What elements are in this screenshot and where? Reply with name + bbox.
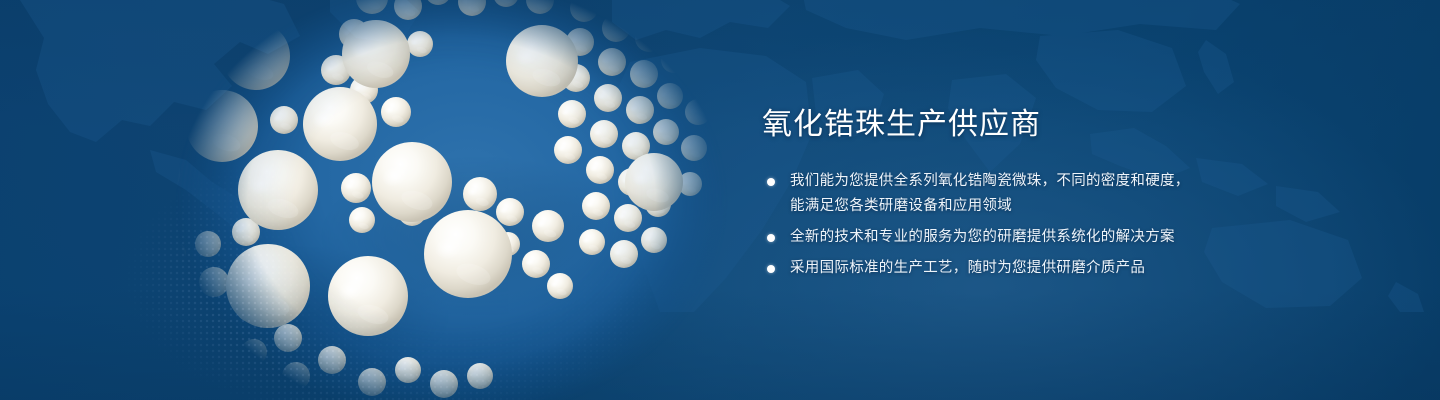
feature-item: 我们能为您提供全系列氧化锆陶瓷微珠，不同的密度和硬度， 能满足您各类研磨设备和应…: [762, 169, 1282, 219]
banner-title: 氧化锆珠生产供应商: [762, 108, 1282, 141]
feature-text-line1: 采用国际标准的生产工艺，随时为您提供研磨介质产品: [790, 260, 1145, 276]
banner-content: 氧化锆珠生产供应商 我们能为您提供全系列氧化锆陶瓷微珠，不同的密度和硬度， 能满…: [762, 108, 1282, 287]
product-photo-zirconia-beads: [150, 0, 730, 400]
bullet-dot-icon: [767, 234, 775, 242]
feature-item: 采用国际标准的生产工艺，随时为您提供研磨介质产品: [762, 256, 1282, 281]
feature-text-line1: 全新的技术和专业的服务为您的研磨提供系统化的解决方案: [790, 229, 1175, 245]
feature-item: 全新的技术和专业的服务为您的研磨提供系统化的解决方案: [762, 225, 1282, 250]
hero-banner: 氧化锆珠生产供应商 我们能为您提供全系列氧化锆陶瓷微珠，不同的密度和硬度， 能满…: [0, 0, 1440, 400]
feature-text-line1: 我们能为您提供全系列氧化锆陶瓷微珠，不同的密度和硬度，: [790, 173, 1190, 189]
bullet-dot-icon: [767, 178, 775, 186]
bullet-dot-icon: [767, 265, 775, 273]
feature-text-line2: 能满足您各类研磨设备和应用领域: [790, 194, 1282, 219]
feature-list: 我们能为您提供全系列氧化锆陶瓷微珠，不同的密度和硬度， 能满足您各类研磨设备和应…: [762, 169, 1282, 281]
